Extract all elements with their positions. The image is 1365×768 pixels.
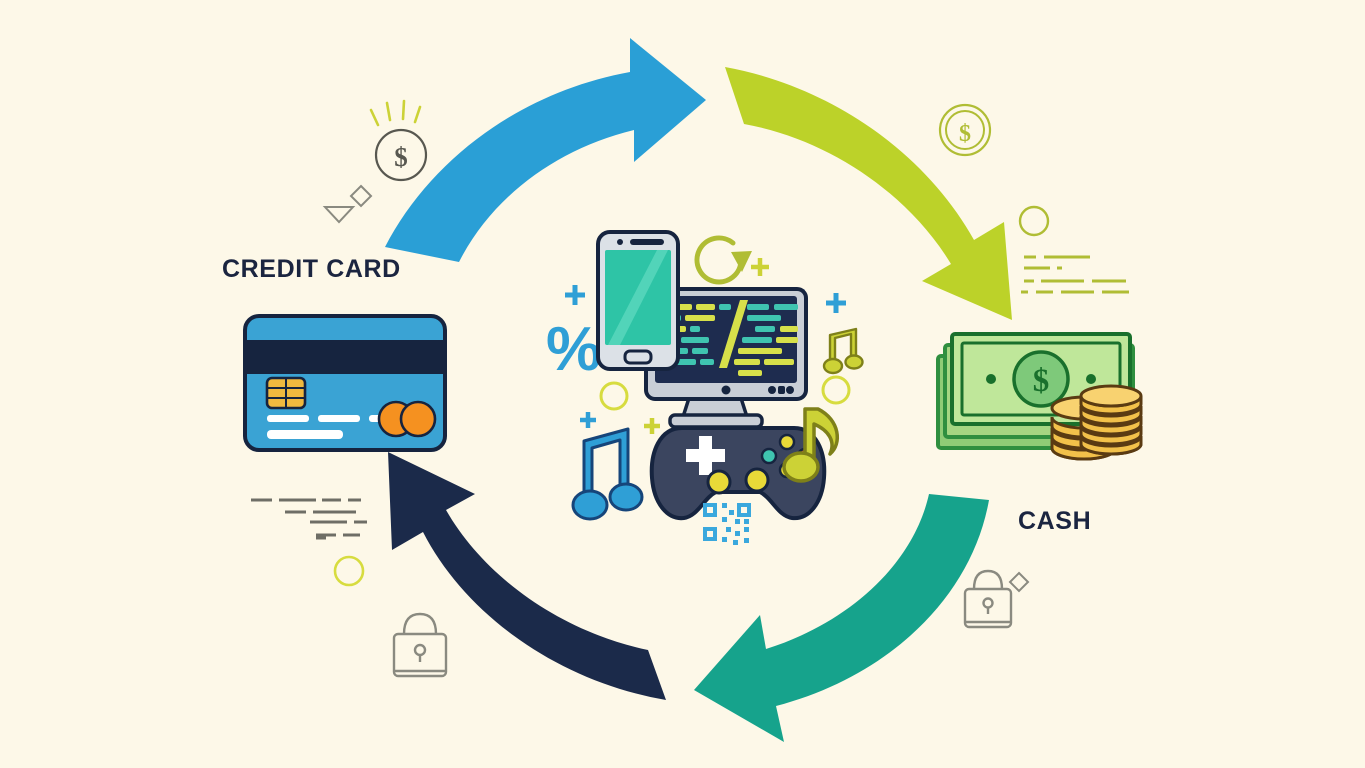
smartphone-icon (598, 232, 678, 369)
node-label-cash: CASH (1018, 507, 1091, 536)
infographic-canvas: $ $ (0, 0, 1365, 768)
music-note-small-yellow-icon (824, 329, 863, 373)
music-note-blue-icon (573, 429, 642, 519)
digital-devices-cluster (0, 0, 1365, 768)
node-label-credit-card: CREDIT CARD (222, 255, 401, 284)
qr-code-icon (703, 503, 751, 545)
